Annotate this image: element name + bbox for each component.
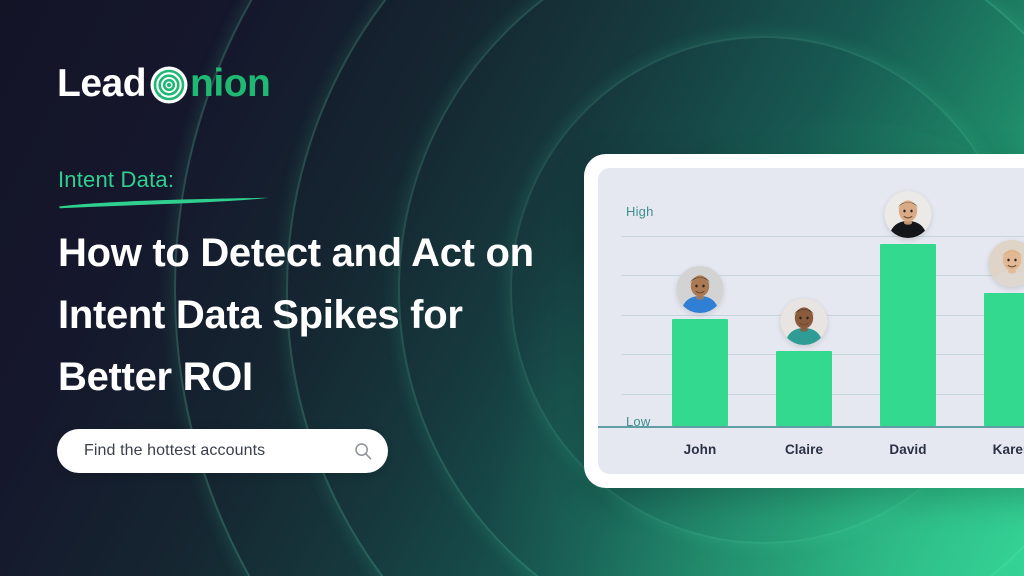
avatar-david[interactable] xyxy=(885,191,932,238)
chart-bar-column[interactable]: Karen xyxy=(984,184,1024,426)
avatar-john[interactable] xyxy=(677,266,724,313)
chart-bars: John Claire David xyxy=(672,184,1024,426)
bar-label-john: John xyxy=(684,442,717,457)
brand-logo[interactable]: Lead nion xyxy=(57,63,270,103)
logo-text-nion: nion xyxy=(190,64,270,103)
search-icon[interactable] xyxy=(354,442,372,460)
bar-label-david: David xyxy=(889,442,926,457)
logo-text-lead: Lead xyxy=(57,64,146,103)
onion-spiral-icon xyxy=(149,65,189,105)
intent-chart-card: High Low John xyxy=(584,154,1024,488)
kicker-text: Intent Data: xyxy=(58,167,174,193)
search-input[interactable]: Find the hottest accounts xyxy=(57,429,388,473)
hero-banner: Lead nion Intent Data: How to Detect and… xyxy=(0,0,1024,576)
bar-claire[interactable] xyxy=(776,351,832,426)
chart-x-axis xyxy=(598,426,1024,428)
kicker-block: Intent Data: xyxy=(58,167,174,193)
chart-bar-column[interactable]: John xyxy=(672,184,728,426)
bar-david[interactable] xyxy=(880,244,936,426)
bar-karen[interactable] xyxy=(984,293,1024,426)
avatar-claire[interactable] xyxy=(781,298,828,345)
chart-bar-column[interactable]: David xyxy=(880,184,936,426)
page-title: How to Detect and Act on Intent Data Spi… xyxy=(58,222,568,408)
chart-bar-column[interactable]: Claire xyxy=(776,184,832,426)
chart-plot-area: High Low John xyxy=(598,168,1024,474)
underline-stroke-icon xyxy=(57,196,272,210)
bar-label-karen: Karen xyxy=(993,442,1024,457)
bar-john[interactable] xyxy=(672,319,728,426)
bar-label-claire: Claire xyxy=(785,442,823,457)
avatar-karen[interactable] xyxy=(989,240,1024,287)
search-input-value[interactable]: Find the hottest accounts xyxy=(84,442,354,460)
